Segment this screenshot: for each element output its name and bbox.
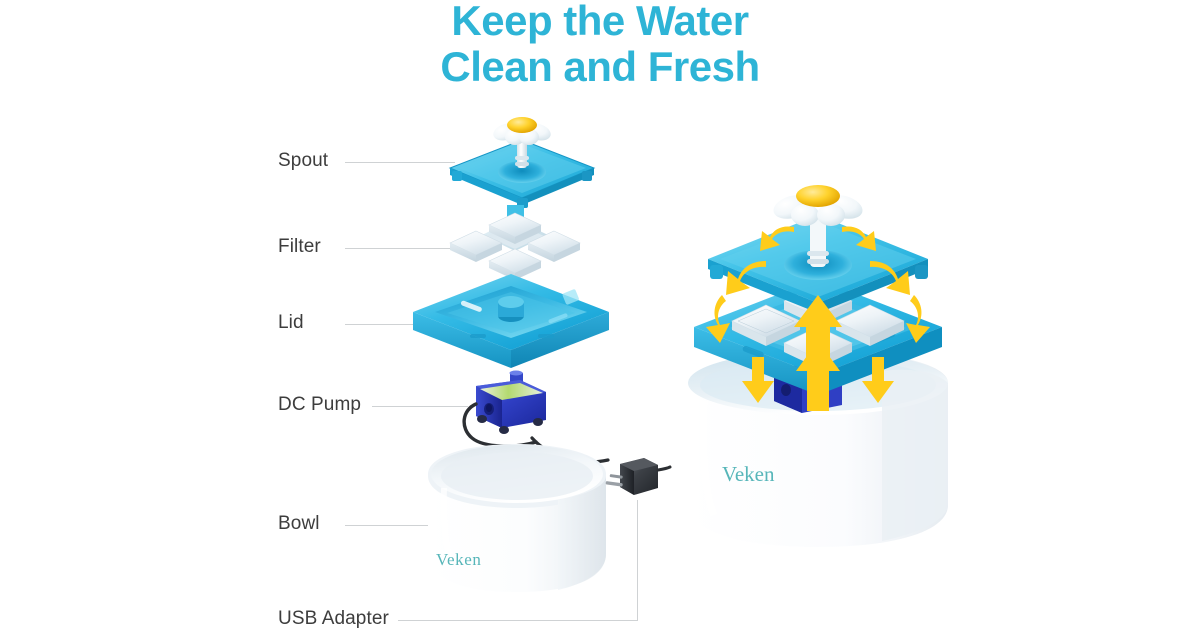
title-line-1: Keep the Water [0, 0, 1200, 42]
callout-label-dc-pump: DC Pump [278, 394, 361, 416]
callout-label-filter: Filter [278, 236, 321, 258]
spout-flower [492, 110, 552, 172]
callout-label-lid: Lid [278, 312, 304, 334]
part-lid [410, 272, 615, 364]
part-usb-adapter [604, 452, 670, 512]
leader-line-usb-adapter [398, 620, 638, 621]
infographic-canvas: Keep the Water Clean and Fresh Spout Fil… [0, 0, 1200, 630]
callout-label-bowl: Bowl [278, 513, 320, 535]
callout-label-spout: Spout [278, 150, 328, 172]
part-bowl: Veken [408, 442, 628, 602]
leader-line-usb-adapter-vertical [637, 500, 638, 620]
assembled-bowl-brand: Veken [722, 462, 775, 486]
leader-line-dc-pump [372, 406, 468, 407]
assembled-unit: Veken [670, 175, 970, 555]
title-line-2: Clean and Fresh [0, 42, 1200, 88]
part-spout [430, 110, 600, 205]
bowl-brand-logo: Veken [436, 550, 481, 570]
callout-label-usb-adapter: USB Adapter [278, 608, 389, 630]
page-title: Keep the Water Clean and Fresh [0, 0, 1200, 88]
